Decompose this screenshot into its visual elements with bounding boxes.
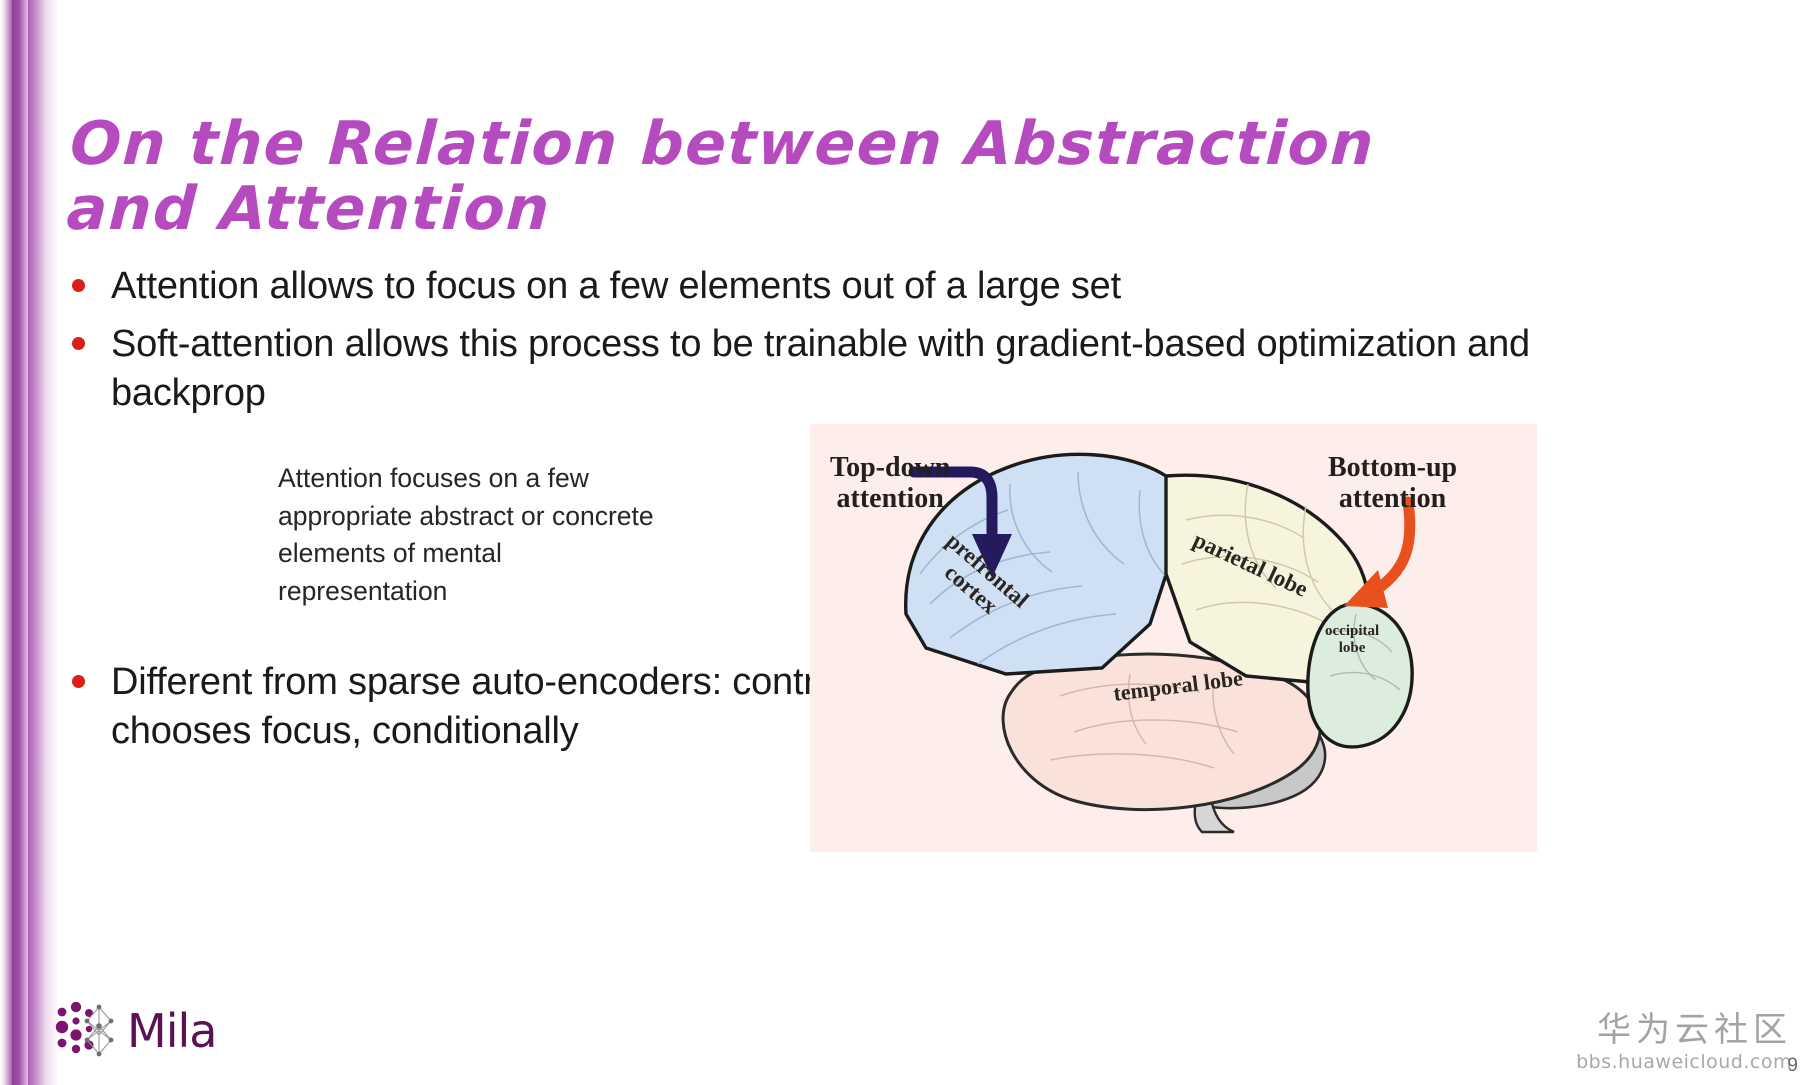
top-down-label-line2: attention [830,483,950,514]
inset-note-line: representation [278,573,708,611]
inset-note-line: Attention focuses on a few [278,460,708,498]
mila-network-icon [55,1002,119,1060]
left-bar-gradient-stripe [12,0,28,1085]
bullet-dot-icon [72,675,85,688]
watermark: 华为云社区 bbs.huaweicloud.com [1576,1013,1792,1073]
bottom-up-arrow [1376,502,1410,590]
mila-logo: Mila [55,1000,275,1062]
inset-annotation-note: Attention focuses on a few appropriate a… [278,460,708,611]
occipital-label-line2: lobe [1325,640,1379,657]
watermark-url-text: bbs.huaweicloud.com [1576,1051,1792,1073]
bottom-up-label-line1: Bottom-up [1328,452,1457,483]
bullet-text: Attention allows to focus on a few eleme… [111,262,1121,311]
watermark-chinese-text: 华为云社区 [1576,1013,1792,1049]
left-decorative-bar [0,0,58,1085]
bullet-dot-icon [72,337,85,350]
bullet-text: Soft-attention allows this process to be… [111,320,1602,419]
occipital-label-line1: occipital [1325,623,1379,640]
mila-wordmark: Mila [127,1008,216,1054]
bullet-dot-icon [72,279,85,292]
inset-note-line: appropriate abstract or concrete [278,498,708,536]
bottom-up-attention-label: Bottom-up attention [1328,452,1457,515]
bullet-item: Attention allows to focus on a few eleme… [72,262,1572,311]
slide-title: On the Relation between Abstraction and … [65,112,1412,242]
occipital-lobe-label: occipital lobe [1325,623,1379,656]
top-down-label-line1: Top-down [830,452,950,483]
bullet-item: Soft-attention allows this process to be… [72,320,1602,419]
slide-number: 9 [1787,1055,1798,1077]
inset-note-line: elements of mental [278,535,708,573]
top-down-attention-label: Top-down attention [830,452,950,515]
bottom-up-label-line2: attention [1328,483,1457,514]
